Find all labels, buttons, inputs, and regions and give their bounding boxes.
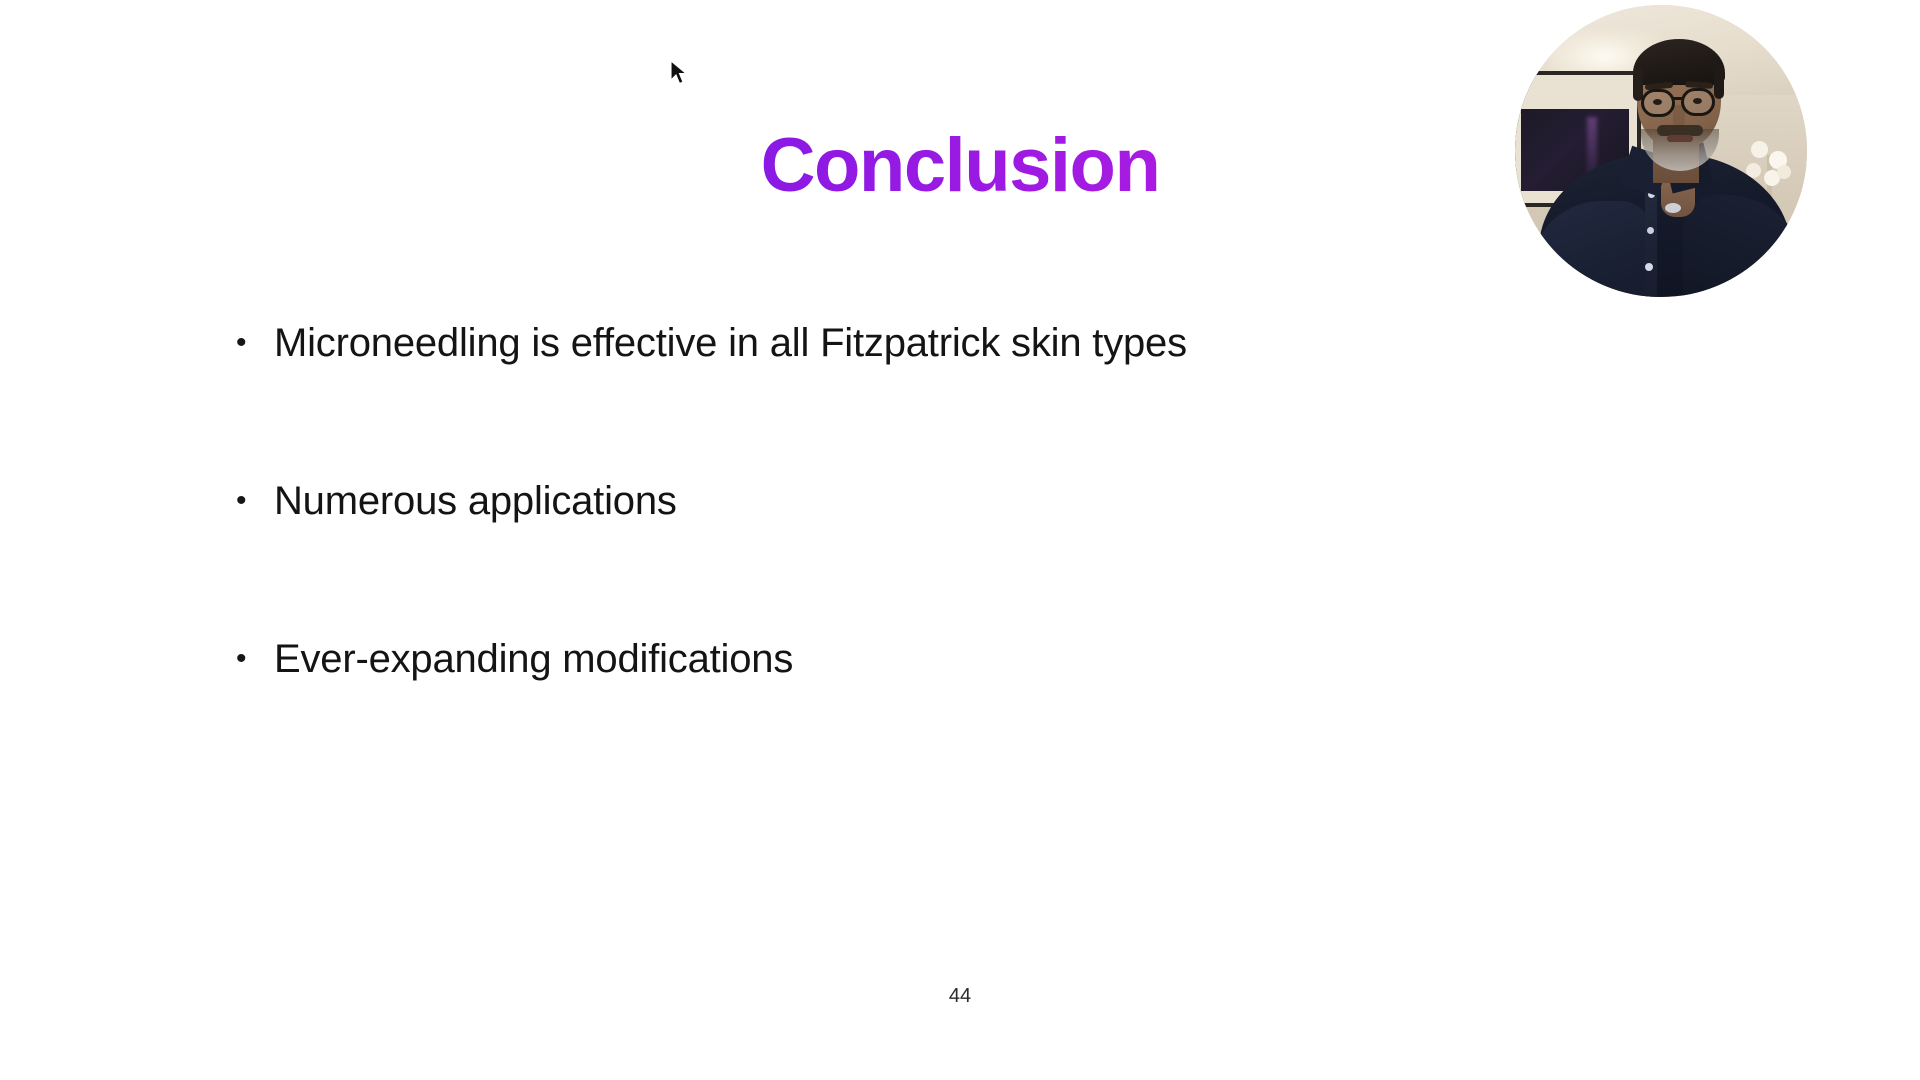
presenter-eye-right: [1693, 98, 1702, 104]
bullet-text: Ever-expanding modifications: [274, 634, 793, 684]
mouse-cursor-icon: [670, 60, 688, 86]
lamp-bulb: [1751, 141, 1768, 158]
bullet-list: • Microneedling is effective in all Fitz…: [232, 318, 1432, 792]
presenter-necklace: [1665, 203, 1681, 213]
presenter-video-bubble[interactable]: [1515, 5, 1807, 297]
presenter-mouth: [1667, 135, 1693, 142]
bullet-point-icon: •: [232, 634, 274, 684]
shirt-button: [1647, 227, 1654, 234]
bullet-point-icon: •: [232, 476, 274, 526]
list-item: • Numerous applications: [232, 476, 1432, 634]
presenter-sideburn-right: [1714, 65, 1724, 99]
bullet-text: Numerous applications: [274, 476, 677, 526]
bullet-text: Microneedling is effective in all Fitzpa…: [274, 318, 1187, 368]
bullet-point-icon: •: [232, 318, 274, 368]
eyeglasses-bridge: [1673, 97, 1683, 100]
lamp-bulb: [1777, 165, 1791, 179]
list-item: • Microneedling is effective in all Fitz…: [232, 318, 1432, 476]
slide-page-number: 44: [0, 985, 1920, 1008]
shirt-button: [1645, 263, 1653, 271]
presentation-slide: Conclusion • Microneedling is effective …: [0, 0, 1920, 1080]
presenter-eye-left: [1653, 99, 1662, 105]
list-item: • Ever-expanding modifications: [232, 634, 1432, 792]
